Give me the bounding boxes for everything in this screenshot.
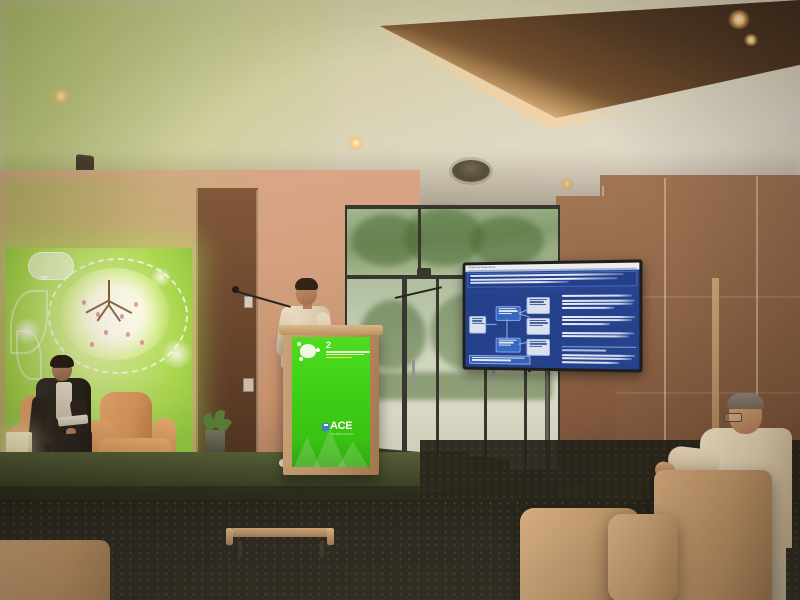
step-stool-rail <box>226 528 233 545</box>
speaker-hair <box>295 278 318 290</box>
diagram-node <box>526 318 550 335</box>
panelist-shirt <box>56 382 72 420</box>
ace-logo-subtitle: ASSOCIACAO <box>331 432 354 436</box>
panelist-hair <box>50 355 74 367</box>
event-logo-icon <box>296 340 324 362</box>
wall-seam <box>600 392 800 394</box>
glasses-icon <box>724 413 742 422</box>
slide-paragraph <box>561 316 636 326</box>
backdrop-figure <box>120 314 124 319</box>
door-header <box>345 205 559 209</box>
presentation-display: Objetivos Especificos MATERIAIS E METODO… <box>463 259 643 372</box>
door-mullion <box>402 276 407 470</box>
diagram-node <box>526 297 550 314</box>
diagram-node <box>496 306 521 321</box>
wall-seam <box>196 188 198 476</box>
ace-logo-icon <box>322 423 329 431</box>
backdrop-speech-bubble <box>28 252 74 280</box>
slide-footnote <box>561 354 636 365</box>
backdrop-figure <box>104 330 108 335</box>
backdrop-orb <box>12 318 42 344</box>
ceiling-spot-light <box>348 136 364 150</box>
door-handle[interactable] <box>412 360 415 386</box>
step-stool-rail <box>327 528 334 545</box>
backdrop-figure <box>140 340 144 345</box>
ceiling-spot-light <box>744 34 758 46</box>
diagram-footer-box <box>469 354 530 364</box>
backdrop-figure <box>134 302 138 307</box>
ceiling-spot-light <box>52 88 70 104</box>
podium-top-surface <box>279 325 383 335</box>
wall-seam <box>256 190 258 476</box>
slide-section-label: MATERIAIS E METODOS <box>468 287 498 290</box>
step-stool-leg <box>238 541 242 557</box>
foreground-armchair-arm <box>608 514 678 600</box>
step-stool-top <box>232 528 332 537</box>
diagram-node <box>496 338 521 353</box>
slide-body <box>467 293 637 367</box>
diagram-connector <box>507 319 508 339</box>
conference-room-photo: 2 ACE ASSOCIACAO Objetivos Especificos M… <box>0 0 800 600</box>
audience-hair <box>727 393 764 409</box>
outdoor-hedge <box>352 372 552 400</box>
event-logo-text: 2 <box>326 341 370 359</box>
wall-outlet <box>243 378 254 392</box>
backdrop-figure <box>126 332 130 337</box>
backdrop-figure <box>82 300 86 305</box>
slide-diagram <box>467 294 558 366</box>
slide-divider <box>561 346 636 348</box>
foreground-armchair <box>0 540 110 600</box>
glasses-icon <box>53 367 70 372</box>
backdrop-figure <box>96 312 100 317</box>
outdoor-foliage <box>470 216 544 266</box>
diagram-connector <box>484 324 496 325</box>
slide-text-column <box>560 293 637 367</box>
event-logo-bars <box>326 351 370 358</box>
backdrop-figure <box>90 342 94 347</box>
slide-paragraph <box>561 294 636 298</box>
diagram-node <box>469 316 486 334</box>
backdrop-orb <box>150 268 172 286</box>
light-switch[interactable] <box>244 296 253 308</box>
ceiling-spot-light <box>728 10 750 29</box>
door-sensor <box>417 268 431 276</box>
slide-paragraph <box>561 332 636 339</box>
ace-logo-text: ACE <box>330 421 352 432</box>
plant-pot <box>205 430 225 452</box>
slide-footnote-label <box>561 349 636 353</box>
ace-logo: ACE <box>322 421 352 432</box>
event-edition-number: 2 <box>326 341 370 350</box>
step-stool <box>226 528 338 546</box>
microphone-icon <box>232 286 239 293</box>
diagram-node <box>526 339 550 356</box>
slide-canvas: Objetivos Especificos MATERIAIS E METODO… <box>465 263 639 370</box>
step-stool-leg <box>320 541 324 557</box>
slide-paragraph <box>561 300 636 310</box>
slide-title: Objetivos Especificos <box>468 266 495 269</box>
slide-bullet-band <box>467 271 637 288</box>
backdrop-orb <box>160 340 194 368</box>
